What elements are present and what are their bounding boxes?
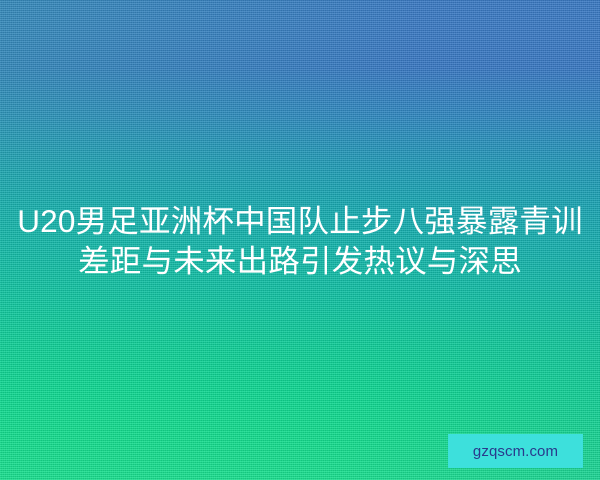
headline-card: U20男足亚洲杯中国队止步八强暴露青训 差距与未来出路引发热议与深思 gzqsc… xyxy=(0,0,600,480)
watermark-label: gzqscm.com xyxy=(473,444,558,459)
headline-title: U20男足亚洲杯中国队止步八强暴露青训 差距与未来出路引发热议与深思 xyxy=(0,201,600,281)
watermark-badge: gzqscm.com xyxy=(448,434,583,468)
